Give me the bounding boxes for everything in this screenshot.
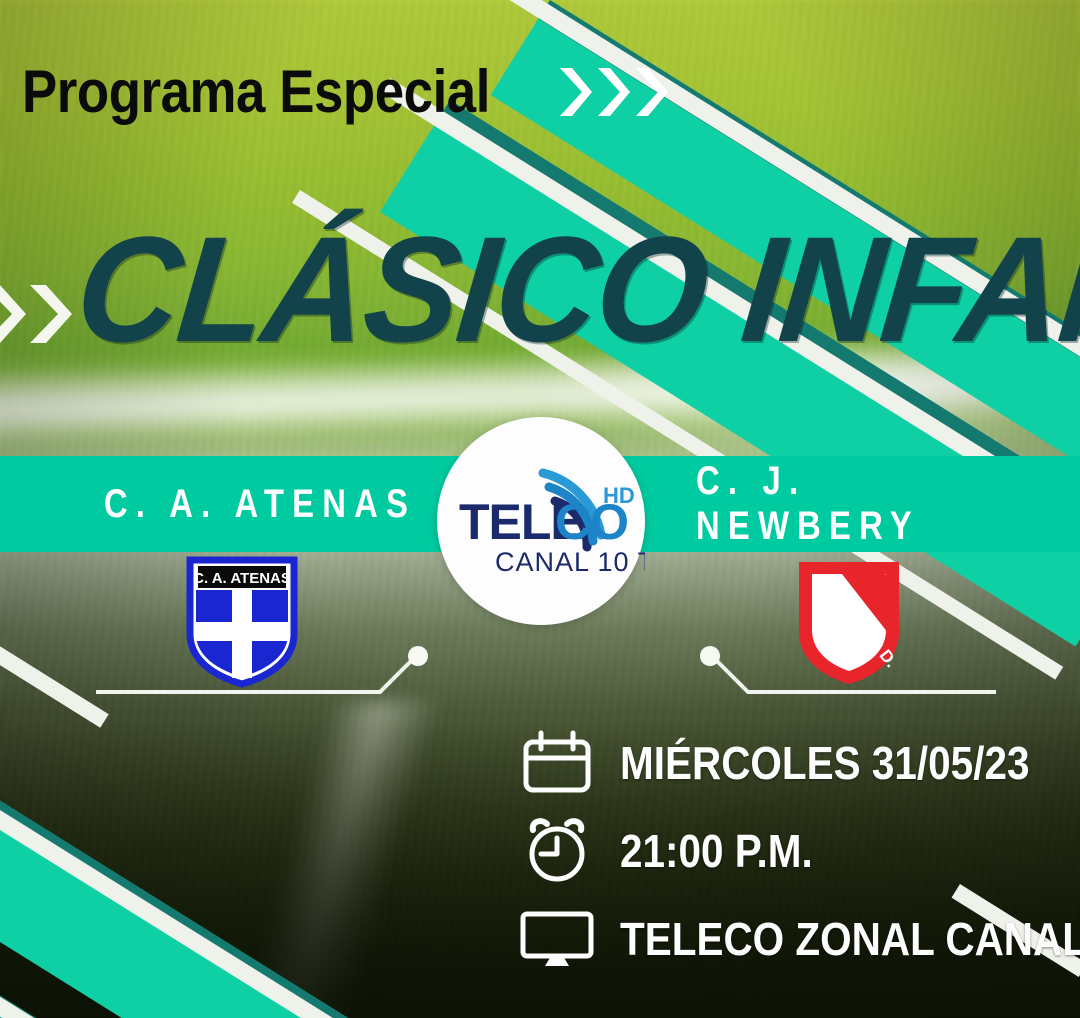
clasico-infantil-poster: Programa Especial CLÁSICO INFANTIL bbox=[0, 0, 1080, 1018]
match-date: MIÉRCOLES 31/05/23 bbox=[620, 736, 1029, 790]
home-team-name: C. A. ATENAS bbox=[96, 456, 424, 552]
program-label: Programa Especial bbox=[22, 62, 490, 122]
match-details: MIÉRCOLES 31/05/23 21:00 P.M. TELECO bbox=[516, 726, 1080, 976]
chevron-right-icon bbox=[558, 66, 592, 118]
alarm-clock-icon bbox=[516, 815, 598, 887]
calendar-icon bbox=[516, 727, 598, 799]
cj-newbery-crest: C.J.N.C.S y D. bbox=[794, 556, 904, 688]
teleco-logo-mark: TELE CO HD CANAL 10 TV bbox=[437, 417, 645, 625]
detail-row-channel: TELECO ZONAL CANAL 10 TV bbox=[516, 902, 1080, 976]
chevron-right-icon bbox=[0, 283, 26, 345]
ca-atenas-crest: C. A. ATENAS bbox=[186, 556, 298, 688]
svg-text:C. A. ATENAS: C. A. ATENAS bbox=[193, 570, 291, 587]
main-title-row: CLÁSICO INFANTIL bbox=[0, 222, 1080, 357]
tv-monitor-icon bbox=[516, 903, 598, 975]
title-chevrons bbox=[0, 283, 72, 345]
chevron-right-icon bbox=[28, 283, 72, 345]
away-team-name: C. J. NEWBERY bbox=[696, 456, 1024, 552]
detail-row-date: MIÉRCOLES 31/05/23 bbox=[516, 726, 1080, 800]
chevron-right-icon bbox=[596, 66, 630, 118]
program-header: Programa Especial bbox=[22, 62, 668, 122]
ca-atenas-crest-shape: C. A. ATENAS bbox=[186, 556, 298, 688]
svg-text:HD: HD bbox=[603, 483, 635, 508]
page-title: CLÁSICO INFANTIL bbox=[71, 222, 1080, 357]
cj-newbery-crest-shape: C.J.N.C.S y D. bbox=[794, 556, 904, 688]
match-time: 21:00 P.M. bbox=[620, 824, 813, 878]
broadcast-channel: TELECO ZONAL CANAL 10 TV bbox=[620, 912, 1080, 966]
svg-text:CANAL 10 TV: CANAL 10 TV bbox=[495, 547, 645, 577]
detail-row-time: 21:00 P.M. bbox=[516, 814, 1080, 888]
header-chevrons bbox=[558, 66, 668, 118]
teleco-logo: TELE CO HD CANAL 10 TV bbox=[437, 417, 645, 625]
chevron-right-icon bbox=[634, 66, 668, 118]
